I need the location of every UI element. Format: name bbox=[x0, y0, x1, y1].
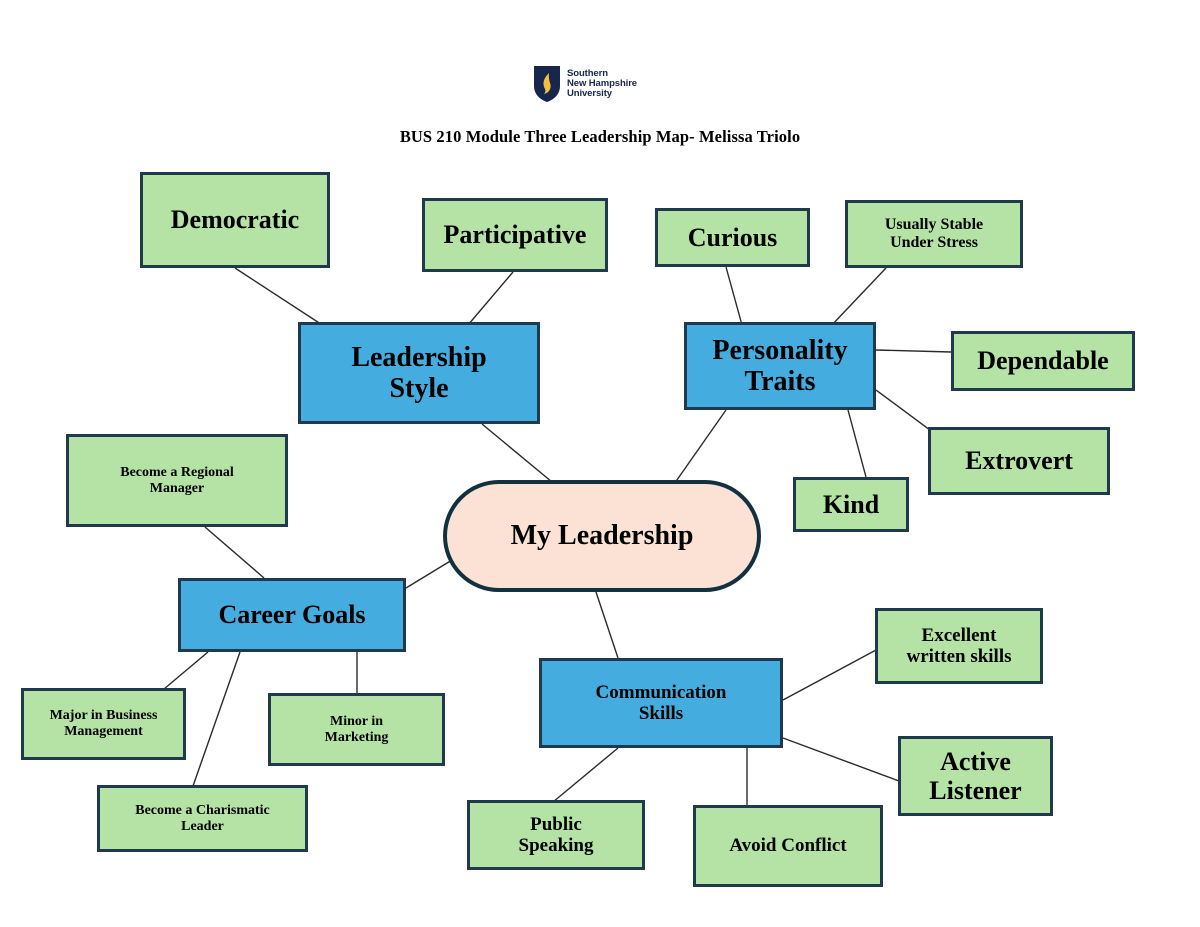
node-usually-stable-under-stress-label-line2: Under Stress bbox=[890, 234, 978, 252]
page-title: BUS 210 Module Three Leadership Map- Mel… bbox=[0, 127, 1200, 147]
node-become-a-regional-manager-label-line2: Manager bbox=[150, 481, 204, 497]
shield-icon bbox=[533, 65, 561, 103]
node-usually-stable-under-stress[interactable]: Usually Stable Under Stress bbox=[845, 200, 1023, 268]
node-major-in-business-management-label-line1: Major in Business bbox=[50, 708, 158, 724]
node-personality-traits-label-line2: Traits bbox=[744, 366, 815, 397]
node-excellent-written-skills[interactable]: Excellent written skills bbox=[875, 608, 1043, 684]
snhu-wordmark-line3: University bbox=[567, 89, 637, 99]
node-extrovert-label: Extrovert bbox=[965, 446, 1073, 475]
node-communication-skills-label-line2: Skills bbox=[639, 703, 683, 724]
edge-curious-to-personality-traits bbox=[726, 267, 742, 325]
node-active-listener-label-line2: Listener bbox=[929, 776, 1021, 805]
edge-career-goals-to-center bbox=[406, 560, 452, 588]
edge-communication-skills-to-active-listener bbox=[783, 738, 899, 781]
node-dependable-label: Dependable bbox=[977, 346, 1108, 375]
node-active-listener[interactable]: Active Listener bbox=[898, 736, 1053, 816]
node-extrovert[interactable]: Extrovert bbox=[928, 427, 1110, 495]
node-communication-skills-label-line1: Communication bbox=[596, 682, 727, 703]
edge-center-to-communication-skills bbox=[596, 592, 618, 658]
node-become-a-charismatic-leader[interactable]: Become a Charismatic Leader bbox=[97, 785, 308, 852]
snhu-wordmark: Southern New Hampshire University bbox=[567, 69, 637, 98]
node-become-a-charismatic-leader-label-line2: Leader bbox=[181, 819, 224, 835]
node-leadership-style[interactable]: Leadership Style bbox=[298, 322, 540, 424]
edge-career-goals-to-major-business bbox=[164, 652, 208, 689]
node-public-speaking[interactable]: Public Speaking bbox=[467, 800, 645, 870]
node-my-leadership-center[interactable]: My Leadership bbox=[443, 480, 761, 592]
edge-communication-skills-to-public-speaking bbox=[553, 748, 618, 802]
node-avoid-conflict-label: Avoid Conflict bbox=[729, 835, 846, 856]
node-communication-skills[interactable]: Communication Skills bbox=[539, 658, 783, 748]
edge-usually-stable-to-personality-traits bbox=[830, 268, 886, 327]
node-participative-label: Participative bbox=[444, 220, 587, 249]
node-active-listener-label-line1: Active bbox=[940, 747, 1011, 776]
node-minor-in-marketing-label-line1: Minor in bbox=[330, 714, 383, 730]
edge-participative-to-leadership-style bbox=[468, 272, 513, 325]
node-minor-in-marketing[interactable]: Minor in Marketing bbox=[268, 693, 445, 766]
node-curious-label: Curious bbox=[688, 223, 778, 252]
node-become-a-charismatic-leader-label-line1: Become a Charismatic bbox=[135, 803, 270, 819]
node-major-in-business-management-label-line2: Management bbox=[64, 724, 143, 740]
node-public-speaking-label-line1: Public bbox=[530, 814, 582, 835]
edge-leadership-style-to-center bbox=[482, 424, 552, 482]
node-minor-in-marketing-label-line2: Marketing bbox=[325, 730, 389, 746]
node-kind[interactable]: Kind bbox=[793, 477, 909, 532]
edge-regional-manager-to-career-goals bbox=[205, 527, 264, 578]
node-excellent-written-skills-label-line2: written skills bbox=[906, 646, 1011, 667]
node-avoid-conflict[interactable]: Avoid Conflict bbox=[693, 805, 883, 887]
node-my-leadership-label: My Leadership bbox=[511, 520, 694, 551]
node-leadership-style-label-line2: Style bbox=[389, 373, 448, 404]
edge-personality-traits-to-kind bbox=[848, 410, 866, 477]
edge-communication-skills-to-excellent-written bbox=[783, 650, 876, 700]
node-curious[interactable]: Curious bbox=[655, 208, 810, 267]
node-leadership-style-label-line1: Leadership bbox=[351, 342, 486, 373]
node-career-goals-label: Career Goals bbox=[218, 600, 365, 629]
node-public-speaking-label-line2: Speaking bbox=[519, 835, 594, 856]
edge-personality-traits-to-center bbox=[672, 410, 726, 487]
edge-personality-traits-to-extrovert bbox=[876, 390, 930, 430]
edge-democratic-to-leadership-style bbox=[235, 268, 330, 330]
node-personality-traits[interactable]: Personality Traits bbox=[684, 322, 876, 410]
edge-career-goals-to-charismatic-leader bbox=[193, 652, 240, 786]
node-personality-traits-label-line1: Personality bbox=[712, 335, 847, 366]
node-democratic-label: Democratic bbox=[171, 205, 299, 234]
snhu-logo: Southern New Hampshire University bbox=[533, 62, 663, 106]
node-dependable[interactable]: Dependable bbox=[951, 331, 1135, 391]
node-kind-label: Kind bbox=[823, 490, 879, 519]
node-participative[interactable]: Participative bbox=[422, 198, 608, 272]
node-become-a-regional-manager[interactable]: Become a Regional Manager bbox=[66, 434, 288, 527]
node-career-goals[interactable]: Career Goals bbox=[178, 578, 406, 652]
node-usually-stable-under-stress-label-line1: Usually Stable bbox=[885, 216, 983, 234]
node-become-a-regional-manager-label-line1: Become a Regional bbox=[120, 465, 234, 481]
node-major-in-business-management[interactable]: Major in Business Management bbox=[21, 688, 186, 760]
node-democratic[interactable]: Democratic bbox=[140, 172, 330, 268]
node-excellent-written-skills-label-line1: Excellent bbox=[922, 625, 997, 646]
leadership-map-canvas: Southern New Hampshire University BUS 21… bbox=[0, 0, 1200, 927]
edge-personality-traits-to-dependable bbox=[876, 350, 951, 352]
